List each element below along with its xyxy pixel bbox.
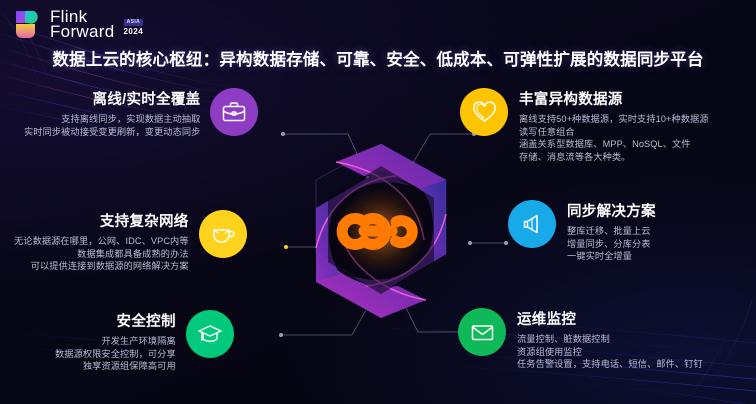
megaphone-icon: [508, 200, 556, 248]
feature-desc-line: 开发生产环境隔离: [55, 335, 176, 348]
feature-title: 丰富异构数据源: [519, 88, 623, 109]
feature-security-control[interactable]: 安全控制 开发生产环境隔离 数据源权限安全控制，可分享 独享资源组保障高可用: [55, 310, 234, 373]
feature-desc-line: 涵盖关系型数据库、MPP、NoSQL、文件: [519, 138, 709, 151]
feature-desc-line: 可以提供连接到数据源的网络解决方案: [14, 260, 189, 273]
feature-desc-line: 读写任意组合: [519, 126, 709, 139]
feature-title: 安全控制: [117, 310, 176, 331]
flink-squirrel-logo-icon: [13, 8, 43, 40]
feature-desc-line: 增量同步、分库分表: [567, 238, 651, 251]
badge-region: ASIA: [124, 19, 144, 26]
slide-canvas: Flink Forward ASIA 2024 数据上云的核心枢纽：异构数据存储…: [0, 0, 756, 404]
feature-title: 离线/实时全覆盖: [93, 88, 201, 109]
feature-sync-solution[interactable]: 同步解决方案 整库迁移、批量上云 增量同步、分库分表 一键实时全增量: [508, 200, 656, 263]
feature-description: 离线支持50+种数据源，实时支持10+种数据源 读写任意组合 涵盖关系型数据库、…: [519, 113, 709, 163]
feature-title: 运维监控: [517, 308, 576, 329]
briefcase-icon: [210, 88, 258, 136]
feature-desc-line: 实时同步被动接受变更刷新，变更动态同步: [24, 126, 200, 139]
feature-ops-monitoring[interactable]: 运维监控 流量控制、脏数据控制 资源组使用监控 任务告警设置，支持电话、短信、邮…: [458, 308, 703, 371]
feature-description: 整库迁移、批量上云 增量同步、分库分表 一键实时全增量: [567, 225, 651, 263]
feature-desc-line: 任务告警设置，支持电话、短信、邮件、钉钉: [517, 358, 703, 371]
feature-desc-line: 资源组使用监控: [517, 346, 703, 359]
feature-desc-line: 独享资源组保障高可用: [55, 360, 176, 373]
feature-description: 支持离线同步，实现数据主动抽取 实时同步被动接受变更刷新，变更动态同步: [24, 113, 200, 138]
feature-desc-line: 离线支持50+种数据源，实时支持10+种数据源: [519, 113, 709, 126]
feature-complex-network[interactable]: 支持复杂网络 无论数据源在哪里，公网、IDC、VPC内等 数据集成都具备成熟的办…: [14, 210, 247, 273]
feature-desc-line: 无论数据源在哪里，公网、IDC、VPC内等: [14, 235, 189, 248]
envelope-icon: [458, 308, 506, 356]
logo-line-2: Forward: [50, 24, 114, 39]
feature-offline-realtime[interactable]: 离线/实时全覆盖 支持离线同步，实现数据主动抽取 实时同步被动接受变更刷新，变更…: [24, 88, 258, 138]
hexagon-aperture-graphic: [286, 136, 476, 326]
feature-rich-data-sources[interactable]: 丰富异构数据源 离线支持50+种数据源，实时支持10+种数据源 读写任意组合 涵…: [460, 88, 709, 163]
logo-event-badge: ASIA 2024: [123, 11, 143, 36]
brand-logo: Flink Forward ASIA 2024: [13, 8, 143, 40]
feature-desc-line: 流量控制、脏数据控制: [517, 333, 703, 346]
feature-desc-line: 支持离线同步，实现数据主动抽取: [24, 113, 200, 126]
heart-icon: [460, 88, 508, 136]
feature-description: 流量控制、脏数据控制 资源组使用监控 任务告警设置，支持电话、短信、邮件、钉钉: [517, 333, 703, 371]
feature-desc-line: 数据集成都具备成熟的办法: [14, 248, 189, 261]
feature-title: 同步解决方案: [567, 200, 656, 221]
feature-description: 无论数据源在哪里，公网、IDC、VPC内等 数据集成都具备成熟的办法 可以提供连…: [14, 235, 189, 273]
cup-icon: [199, 210, 247, 258]
graduation-cap-icon: [186, 310, 234, 358]
feature-desc-line: 一键实时全增量: [567, 250, 651, 263]
feature-desc-line: 存储、消息流等各大种类。: [519, 151, 709, 164]
feature-desc-line: 整库迁移、批量上云: [567, 225, 651, 238]
feature-title: 支持复杂网络: [100, 210, 189, 231]
badge-year: 2024: [123, 28, 143, 36]
feature-desc-line: 数据源权限安全控制，可分享: [55, 348, 176, 361]
brand-logo-text: Flink Forward: [50, 9, 114, 39]
feature-description: 开发生产环境隔离 数据源权限安全控制，可分享 独享资源组保障高可用: [55, 335, 176, 373]
page-title: 数据上云的核心枢纽：异构数据存储、可靠、安全、低成本、可弹性扩展的数据同步平台: [0, 46, 756, 70]
